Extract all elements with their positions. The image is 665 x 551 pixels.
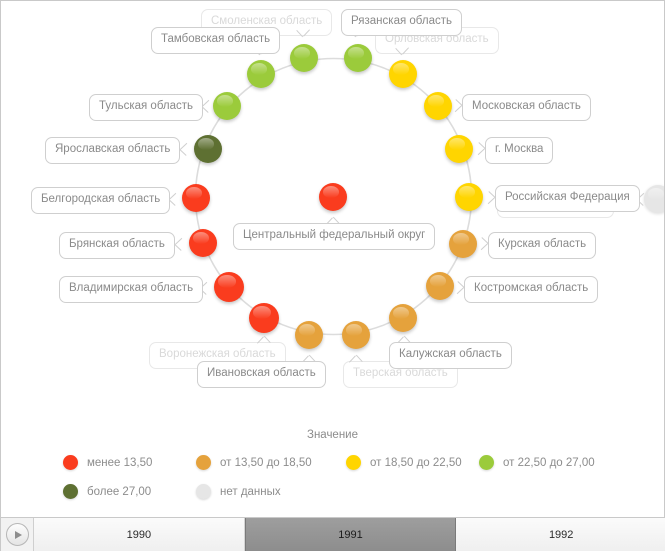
legend-swatch — [63, 455, 78, 470]
legend-item[interactable]: менее 13,50 — [63, 455, 152, 470]
radial-chart-plot[interactable]: Смоленская область Рязанская область Там… — [1, 1, 664, 416]
legend-label: от 13,50 до 18,50 — [220, 457, 312, 469]
data-point[interactable] — [189, 229, 217, 257]
callout-vladimir[interactable]: Владимирская область — [59, 276, 203, 303]
callout-label: Смоленская область — [211, 15, 322, 27]
legend-swatch — [196, 484, 211, 499]
callout-kaluga[interactable]: Калужская область — [389, 342, 512, 369]
legend-title: Значение — [1, 429, 664, 441]
callout-bryansk[interactable]: Брянская область — [59, 232, 175, 259]
legend-label: от 22,50 до 27,00 — [503, 457, 595, 469]
data-point[interactable] — [214, 272, 244, 302]
data-point[interactable] — [445, 135, 473, 163]
data-point[interactable] — [389, 60, 417, 88]
timeline-tick-1992[interactable]: 1992 — [456, 518, 665, 551]
timeline-tick-1991[interactable]: 1991 — [245, 518, 457, 551]
callout-label: Костромская область — [474, 282, 588, 294]
legend-label: более 27,00 — [87, 486, 151, 498]
callout-moscow-city[interactable]: г. Москва — [485, 137, 553, 164]
callout-label: Центральный федеральный округ — [243, 229, 425, 241]
callout-belgorod[interactable]: Белгородская область — [31, 187, 170, 214]
data-point[interactable] — [290, 44, 318, 72]
data-point[interactable] — [389, 304, 417, 332]
legend: Значение менее 13,50от 13,50 до 18,50от … — [1, 429, 664, 517]
data-point[interactable] — [426, 272, 454, 300]
legend-item[interactable]: от 13,50 до 18,50 — [196, 455, 312, 470]
data-point[interactable] — [344, 44, 372, 72]
data-point[interactable] — [424, 92, 452, 120]
callout-ryazan[interactable]: Рязанская область — [341, 9, 462, 36]
legend-label: менее 13,50 — [87, 457, 152, 469]
callout-tambov[interactable]: Тамбовская область — [151, 27, 280, 54]
play-button-cell[interactable] — [1, 518, 34, 551]
callout-kursk[interactable]: Курская область — [488, 232, 596, 259]
data-point[interactable] — [449, 230, 477, 258]
callout-label: Ярославская область — [55, 143, 170, 155]
callout-ivanovo[interactable]: Ивановская область — [197, 361, 326, 388]
legend-swatch — [479, 455, 494, 470]
callout-label: Курская область — [498, 238, 586, 250]
callout-label: Российская Федерация — [505, 191, 630, 203]
data-point[interactable] — [644, 185, 664, 213]
legend-swatch — [63, 484, 78, 499]
play-triangle-icon — [15, 531, 22, 539]
callout-label: Белгородская область — [41, 193, 160, 205]
callout-label: Тамбовская область — [161, 33, 270, 45]
data-point[interactable] — [249, 303, 279, 333]
data-point-center[interactable] — [319, 183, 347, 211]
timeline-slider[interactable]: 199019911992 — [1, 517, 665, 551]
callout-kostroma[interactable]: Костромская область — [464, 276, 598, 303]
legend-item[interactable]: нет данных — [196, 484, 281, 499]
data-point[interactable] — [182, 184, 210, 212]
callout-label: Владимирская область — [69, 282, 193, 294]
callout-label: Ивановская область — [207, 367, 316, 379]
callout-moscow-oblast[interactable]: Московская область — [462, 94, 591, 121]
callout-yaroslavl[interactable]: Ярославская область — [45, 137, 180, 164]
timeline-track[interactable]: 199019911992 — [34, 518, 665, 551]
play-icon[interactable] — [6, 523, 29, 546]
data-point[interactable] — [213, 92, 241, 120]
legend-item[interactable]: от 18,50 до 22,50 — [346, 455, 462, 470]
timeline-tick-1990[interactable]: 1990 — [34, 518, 245, 551]
callout-label: Московская область — [472, 100, 581, 112]
callout-label: Калужская область — [399, 348, 502, 360]
chart-window: Смоленская область Рязанская область Там… — [0, 0, 665, 551]
legend-swatch — [196, 455, 211, 470]
data-point[interactable] — [295, 321, 323, 349]
legend-item[interactable]: более 27,00 — [63, 484, 151, 499]
callout-label: Воронежская область — [159, 348, 276, 360]
callout-russian-federation[interactable]: Российская Федерация — [495, 185, 640, 212]
callout-tula[interactable]: Тульская область — [89, 94, 203, 121]
data-point[interactable] — [455, 183, 483, 211]
legend-label: от 18,50 до 22,50 — [370, 457, 462, 469]
callout-label: Рязанская область — [351, 15, 452, 27]
legend-label: нет данных — [220, 486, 281, 498]
callout-label: Тульская область — [99, 100, 193, 112]
data-point[interactable] — [247, 60, 275, 88]
legend-swatch — [346, 455, 361, 470]
data-point[interactable] — [194, 135, 222, 163]
callout-label: Брянская область — [69, 238, 165, 250]
callout-central-federal-district[interactable]: Центральный федеральный округ — [233, 223, 435, 250]
legend-item[interactable]: от 22,50 до 27,00 — [479, 455, 595, 470]
data-point[interactable] — [342, 321, 370, 349]
callout-label: Тверская область — [353, 367, 448, 379]
callout-label: г. Москва — [495, 143, 543, 155]
